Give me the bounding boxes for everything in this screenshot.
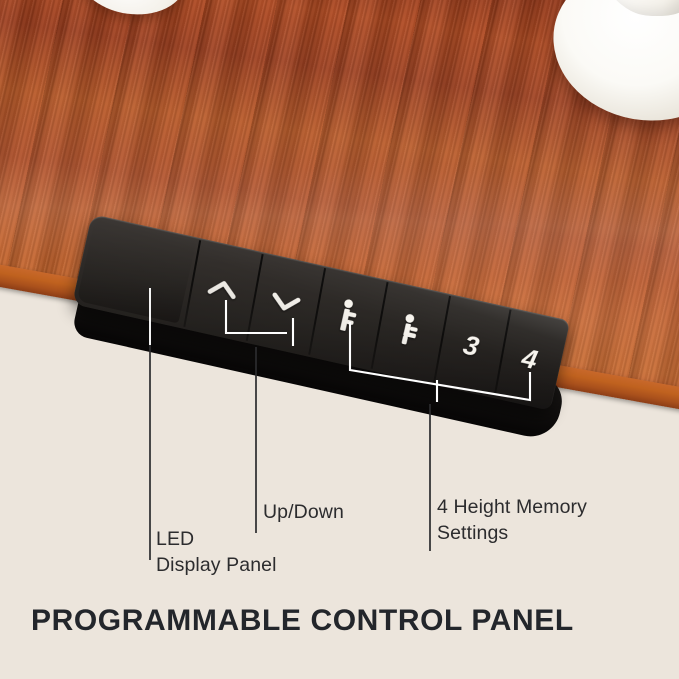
led-display-panel[interactable] — [77, 219, 197, 324]
memory-4-label: 4 — [519, 344, 540, 374]
memory-3-label: 3 — [461, 331, 482, 361]
chevron-down-icon — [268, 290, 302, 318]
standing-person-icon — [333, 297, 363, 339]
callout-label-led-display-panel: LED Display Panel — [156, 527, 277, 578]
page-title: PROGRAMMABLE CONTROL PANEL — [31, 604, 574, 638]
callout-label-height-memory: 4 Height Memory Settings — [437, 495, 587, 546]
callout-label-up-down: Up/Down — [263, 500, 344, 526]
chevron-up-icon — [205, 276, 239, 304]
product-feature-image: 3 4 LED Display Panel Up/Down 4 Height M… — [0, 0, 679, 679]
sitting-person-icon — [394, 312, 425, 352]
